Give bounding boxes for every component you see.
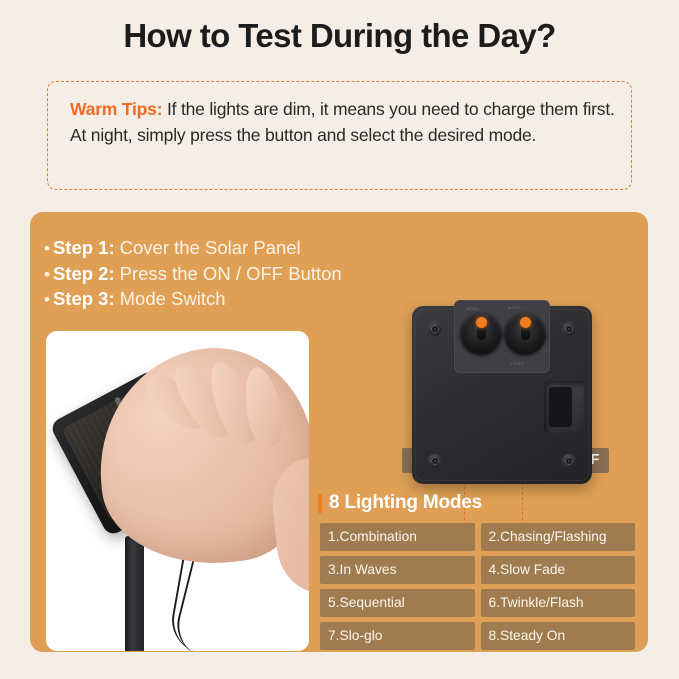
on-off-button[interactable] bbox=[504, 313, 546, 355]
mode-cell: 7.Slo-glo bbox=[320, 622, 475, 650]
cable-port-hole bbox=[549, 387, 572, 427]
accent-bar-icon bbox=[318, 494, 322, 513]
cable-port bbox=[544, 381, 584, 433]
mode-button-indicator bbox=[476, 317, 487, 328]
mode-cell: 2.Chasing/Flashing bbox=[481, 523, 636, 551]
step-label-1: Step 1: bbox=[53, 236, 115, 261]
page-title: How to Test During the Day? bbox=[0, 17, 679, 55]
on-off-button-indicator bbox=[520, 317, 531, 328]
mode-button[interactable] bbox=[460, 313, 502, 355]
bullet-icon: • bbox=[44, 263, 50, 288]
step-text-2: Press the ON / OFF Button bbox=[120, 262, 342, 287]
product-photo bbox=[46, 331, 309, 651]
step-item-1: • Step 1: Cover the Solar Panel bbox=[44, 236, 374, 262]
light-pole bbox=[125, 536, 144, 651]
mode-cell: 3.In Waves bbox=[320, 556, 475, 584]
screw-icon bbox=[562, 454, 576, 468]
step-text-1: Cover the Solar Panel bbox=[120, 236, 301, 261]
lighting-modes-heading: 8 Lighting Modes bbox=[318, 492, 482, 514]
step-text-3: Mode Switch bbox=[120, 287, 226, 312]
wrist bbox=[268, 451, 309, 597]
device-micro-label-mode-2: MODE bbox=[508, 305, 521, 310]
bullet-icon: • bbox=[44, 237, 50, 262]
screw-icon bbox=[428, 322, 442, 336]
warm-tips-text: Warm Tips: If the lights are dim, it mea… bbox=[70, 96, 617, 148]
steps-list: • Step 1: Cover the Solar Panel • Step 2… bbox=[44, 236, 374, 313]
lighting-modes-grid: 1.Combination 2.Chasing/Flashing 3.In Wa… bbox=[320, 523, 635, 650]
screw-icon bbox=[428, 454, 442, 468]
step-label-2: Step 2: bbox=[53, 262, 115, 287]
mode-cell: 5.Sequential bbox=[320, 589, 475, 617]
mode-cell: 6.Twinkle/Flash bbox=[481, 589, 636, 617]
device-micro-label-mode: MODE bbox=[466, 306, 479, 311]
mode-cell: 8.Steady On bbox=[481, 622, 636, 650]
bullet-icon: • bbox=[44, 288, 50, 313]
instruction-panel: • Step 1: Cover the Solar Panel • Step 2… bbox=[30, 212, 648, 652]
step-item-2: • Step 2: Press the ON / OFF Button bbox=[44, 262, 374, 288]
warm-tips-box: Warm Tips: If the lights are dim, it mea… bbox=[47, 81, 632, 190]
step-label-3: Step 3: bbox=[53, 287, 115, 312]
mode-cell: 1.Combination bbox=[320, 523, 475, 551]
warm-tips-label: Warm Tips: bbox=[70, 99, 162, 119]
mode-cell: 4.Slow Fade bbox=[481, 556, 636, 584]
screw-icon bbox=[562, 322, 576, 336]
device-micro-label-timer: TIMER bbox=[510, 361, 524, 366]
button-plate: MODE MODE TIMER bbox=[454, 300, 550, 373]
control-box: MODE MODE TIMER bbox=[412, 306, 592, 484]
lighting-modes-title: 8 Lighting Modes bbox=[329, 492, 482, 514]
product-photo-card bbox=[46, 331, 309, 651]
hand bbox=[88, 338, 309, 574]
step-item-3: • Step 3: Mode Switch bbox=[44, 287, 374, 313]
